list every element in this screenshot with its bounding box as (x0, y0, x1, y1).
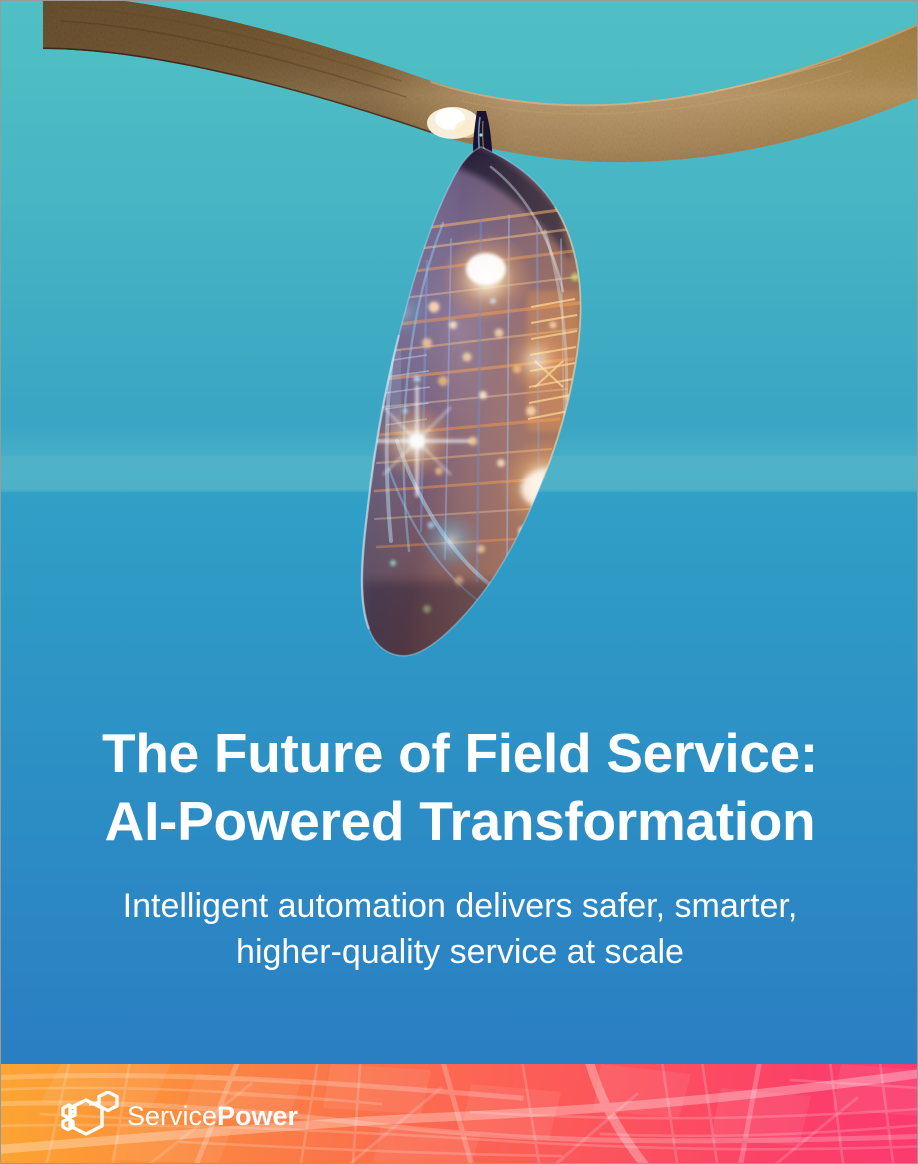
logo-text-service: Service (127, 1101, 217, 1131)
cover-text-block: The Future of Field Service: AI-Powered … (1, 719, 918, 975)
cover-subtitle-line-2: higher-quality service at scale (56, 929, 864, 975)
footer-banner: ServicePower (1, 1064, 918, 1163)
servicepower-wordmark: ServicePower (127, 1103, 298, 1130)
cover-title: The Future of Field Service: AI-Powered … (56, 719, 864, 855)
cover-title-line-2: AI-Powered Transformation (105, 790, 816, 852)
logo-text-power: Power (217, 1101, 298, 1131)
cover-subtitle: Intelligent automation delivers safer, s… (56, 883, 864, 975)
servicepower-logo[interactable]: ServicePower (59, 1091, 298, 1139)
cover-title-line-1: The Future of Field Service: (102, 722, 818, 784)
servicepower-hexagon-mark (59, 1091, 121, 1139)
glowing-chrysalis (331, 111, 621, 681)
cover-subtitle-line-1: Intelligent automation delivers safer, s… (56, 883, 864, 929)
cover-page: The Future of Field Service: AI-Powered … (0, 0, 918, 1164)
